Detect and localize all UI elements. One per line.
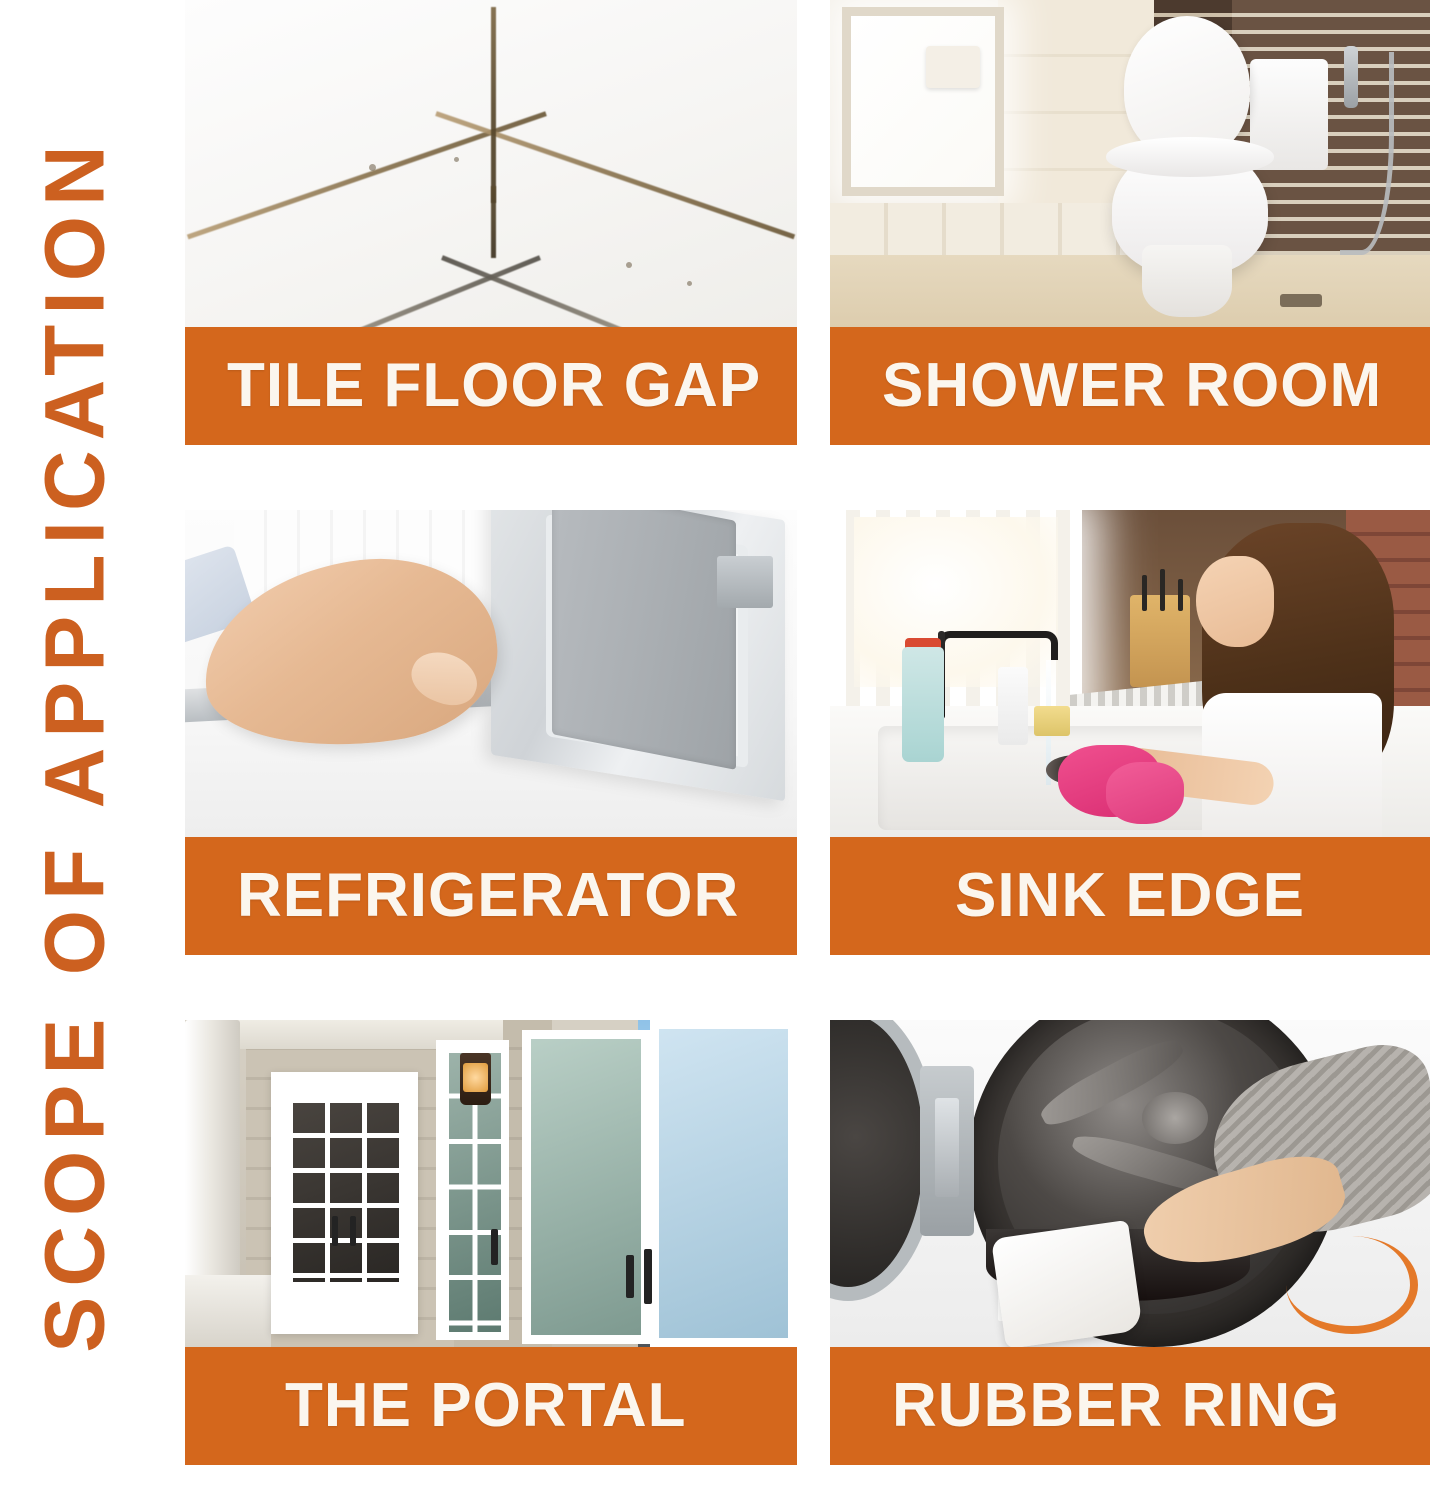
card-the-portal: THE PORTAL <box>185 1020 797 1465</box>
door-handle <box>350 1216 356 1245</box>
french-door <box>271 1072 418 1334</box>
caption-sink-edge: SINK EDGE <box>830 837 1430 955</box>
grout-line-vertical-lower <box>491 186 496 258</box>
card-sink-edge: SINK EDGE <box>830 510 1430 955</box>
caption-shower-room: SHOWER ROOM <box>830 327 1430 445</box>
door-handle <box>332 1216 338 1245</box>
toilet-seat <box>1106 137 1274 176</box>
patio-door-right <box>650 1020 797 1347</box>
porch-column-base <box>185 1275 271 1347</box>
soap-dispenser <box>998 667 1028 745</box>
photo-sink-edge <box>830 510 1430 837</box>
photo-the-portal <box>185 1020 797 1347</box>
knife-blade <box>1160 569 1165 612</box>
side-title-text: SCOPE OF APPLICATION <box>33 135 117 1352</box>
photo-refrigerator <box>185 510 797 837</box>
card-refrigerator: REFRIGERATOR <box>185 510 797 955</box>
pink-rubber-glove <box>1106 762 1184 824</box>
mould-spot <box>687 281 692 286</box>
toilet-paper-holder <box>926 46 980 89</box>
card-rubber-ring: RUBBER RING <box>830 1020 1430 1465</box>
girl-face <box>1196 556 1274 648</box>
toilet-base <box>1142 245 1232 317</box>
knife-blade <box>1142 575 1147 611</box>
photo-rubber-ring <box>830 1020 1430 1347</box>
spray-bottle <box>902 647 944 761</box>
knife-blade <box>1178 579 1183 612</box>
mould-spot <box>454 157 459 162</box>
faucet-spout <box>938 631 1058 660</box>
lantern-glow <box>463 1063 487 1092</box>
infographic-page: SCOPE OF APPLICATION TILE FLOOR GAP <box>0 0 1445 1487</box>
grout-line-lower-left <box>199 255 541 327</box>
caption-refrigerator: REFRIGERATOR <box>185 837 797 955</box>
caption-tile-floor-gap: TILE FLOOR GAP <box>185 327 797 445</box>
mould-spot <box>369 164 376 171</box>
door-handle <box>644 1249 652 1305</box>
porch-column <box>185 1020 240 1288</box>
application-scope-grid: TILE FLOOR GAP SHOWE <box>185 0 1430 1487</box>
door-handle <box>626 1255 634 1298</box>
grout-line-lower-right <box>441 255 783 327</box>
french-door-glass <box>288 1098 401 1282</box>
photo-shower-room <box>830 0 1430 327</box>
drum-hub <box>1142 1092 1208 1144</box>
card-shower-room: SHOWER ROOM <box>830 0 1430 445</box>
window-light <box>854 517 1058 687</box>
door-handle <box>491 1229 498 1265</box>
card-tile-floor-gap: TILE FLOOR GAP <box>185 0 797 445</box>
warning-label-ring <box>1286 1236 1418 1334</box>
sponge <box>1034 706 1070 735</box>
photo-tile-floor-gap <box>185 0 797 327</box>
floor-drain <box>1280 294 1322 307</box>
fridge-door-gasket <box>552 510 736 770</box>
caption-the-portal: THE PORTAL <box>185 1347 797 1465</box>
side-title: SCOPE OF APPLICATION <box>0 0 150 1487</box>
wall-baseboard-tiles <box>830 203 1154 255</box>
cleaning-cloth <box>991 1220 1143 1347</box>
fridge-door-hinge <box>717 556 772 608</box>
bathroom-floor <box>830 255 1430 327</box>
grout-line-upper-right <box>435 111 795 239</box>
grout-line-vertical <box>491 7 496 203</box>
mould-spot <box>626 262 632 268</box>
washer-door-hinge-pin <box>935 1098 959 1196</box>
bidet-sprayer <box>1344 46 1358 108</box>
bathroom-window <box>842 7 1004 197</box>
caption-rubber-ring: RUBBER RING <box>830 1347 1430 1465</box>
